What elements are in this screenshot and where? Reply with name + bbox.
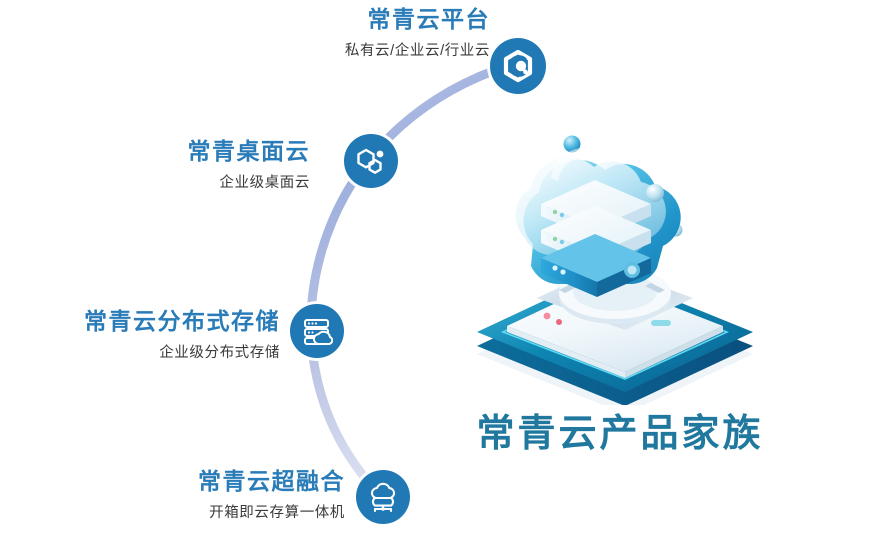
product-item-cloud-platform[interactable]: 常青云平台 私有云/企业云/行业云 [175, 6, 490, 60]
product-subtitle: 私有云/企业云/行业云 [175, 43, 490, 60]
server-cloud-storage-icon[interactable] [290, 304, 344, 358]
product-item-hyperconverged[interactable]: 常青云超融合 开箱即云存算一体机 [95, 468, 345, 522]
hex-c-logo-icon[interactable] [490, 38, 546, 94]
cloud-network-nodes-icon[interactable] [356, 470, 410, 524]
product-item-desktop-cloud[interactable]: 常青桌面云 企业级桌面云 [35, 138, 310, 192]
product-title: 常青桌面云 [35, 138, 310, 166]
hero-illustration [455, 120, 775, 405]
product-subtitle: 企业级桌面云 [35, 175, 310, 192]
hexagon-molecule-icon[interactable] [344, 134, 398, 188]
product-item-distributed-storage[interactable]: 常青云分布式存储 企业级分布式存储 [0, 308, 280, 362]
main-title: 常青云产品家族 [455, 402, 785, 457]
product-family-infographic: 常青云产品家族 常青云平台 私有云/企业云/行业云 常青桌面云 企业级桌面云 常… [0, 0, 869, 554]
product-title: 常青云分布式存储 [0, 308, 280, 336]
product-title: 常青云超融合 [95, 468, 345, 496]
product-subtitle: 企业级分布式存储 [0, 345, 280, 362]
product-title: 常青云平台 [175, 6, 490, 34]
product-subtitle: 开箱即云存算一体机 [95, 505, 345, 522]
